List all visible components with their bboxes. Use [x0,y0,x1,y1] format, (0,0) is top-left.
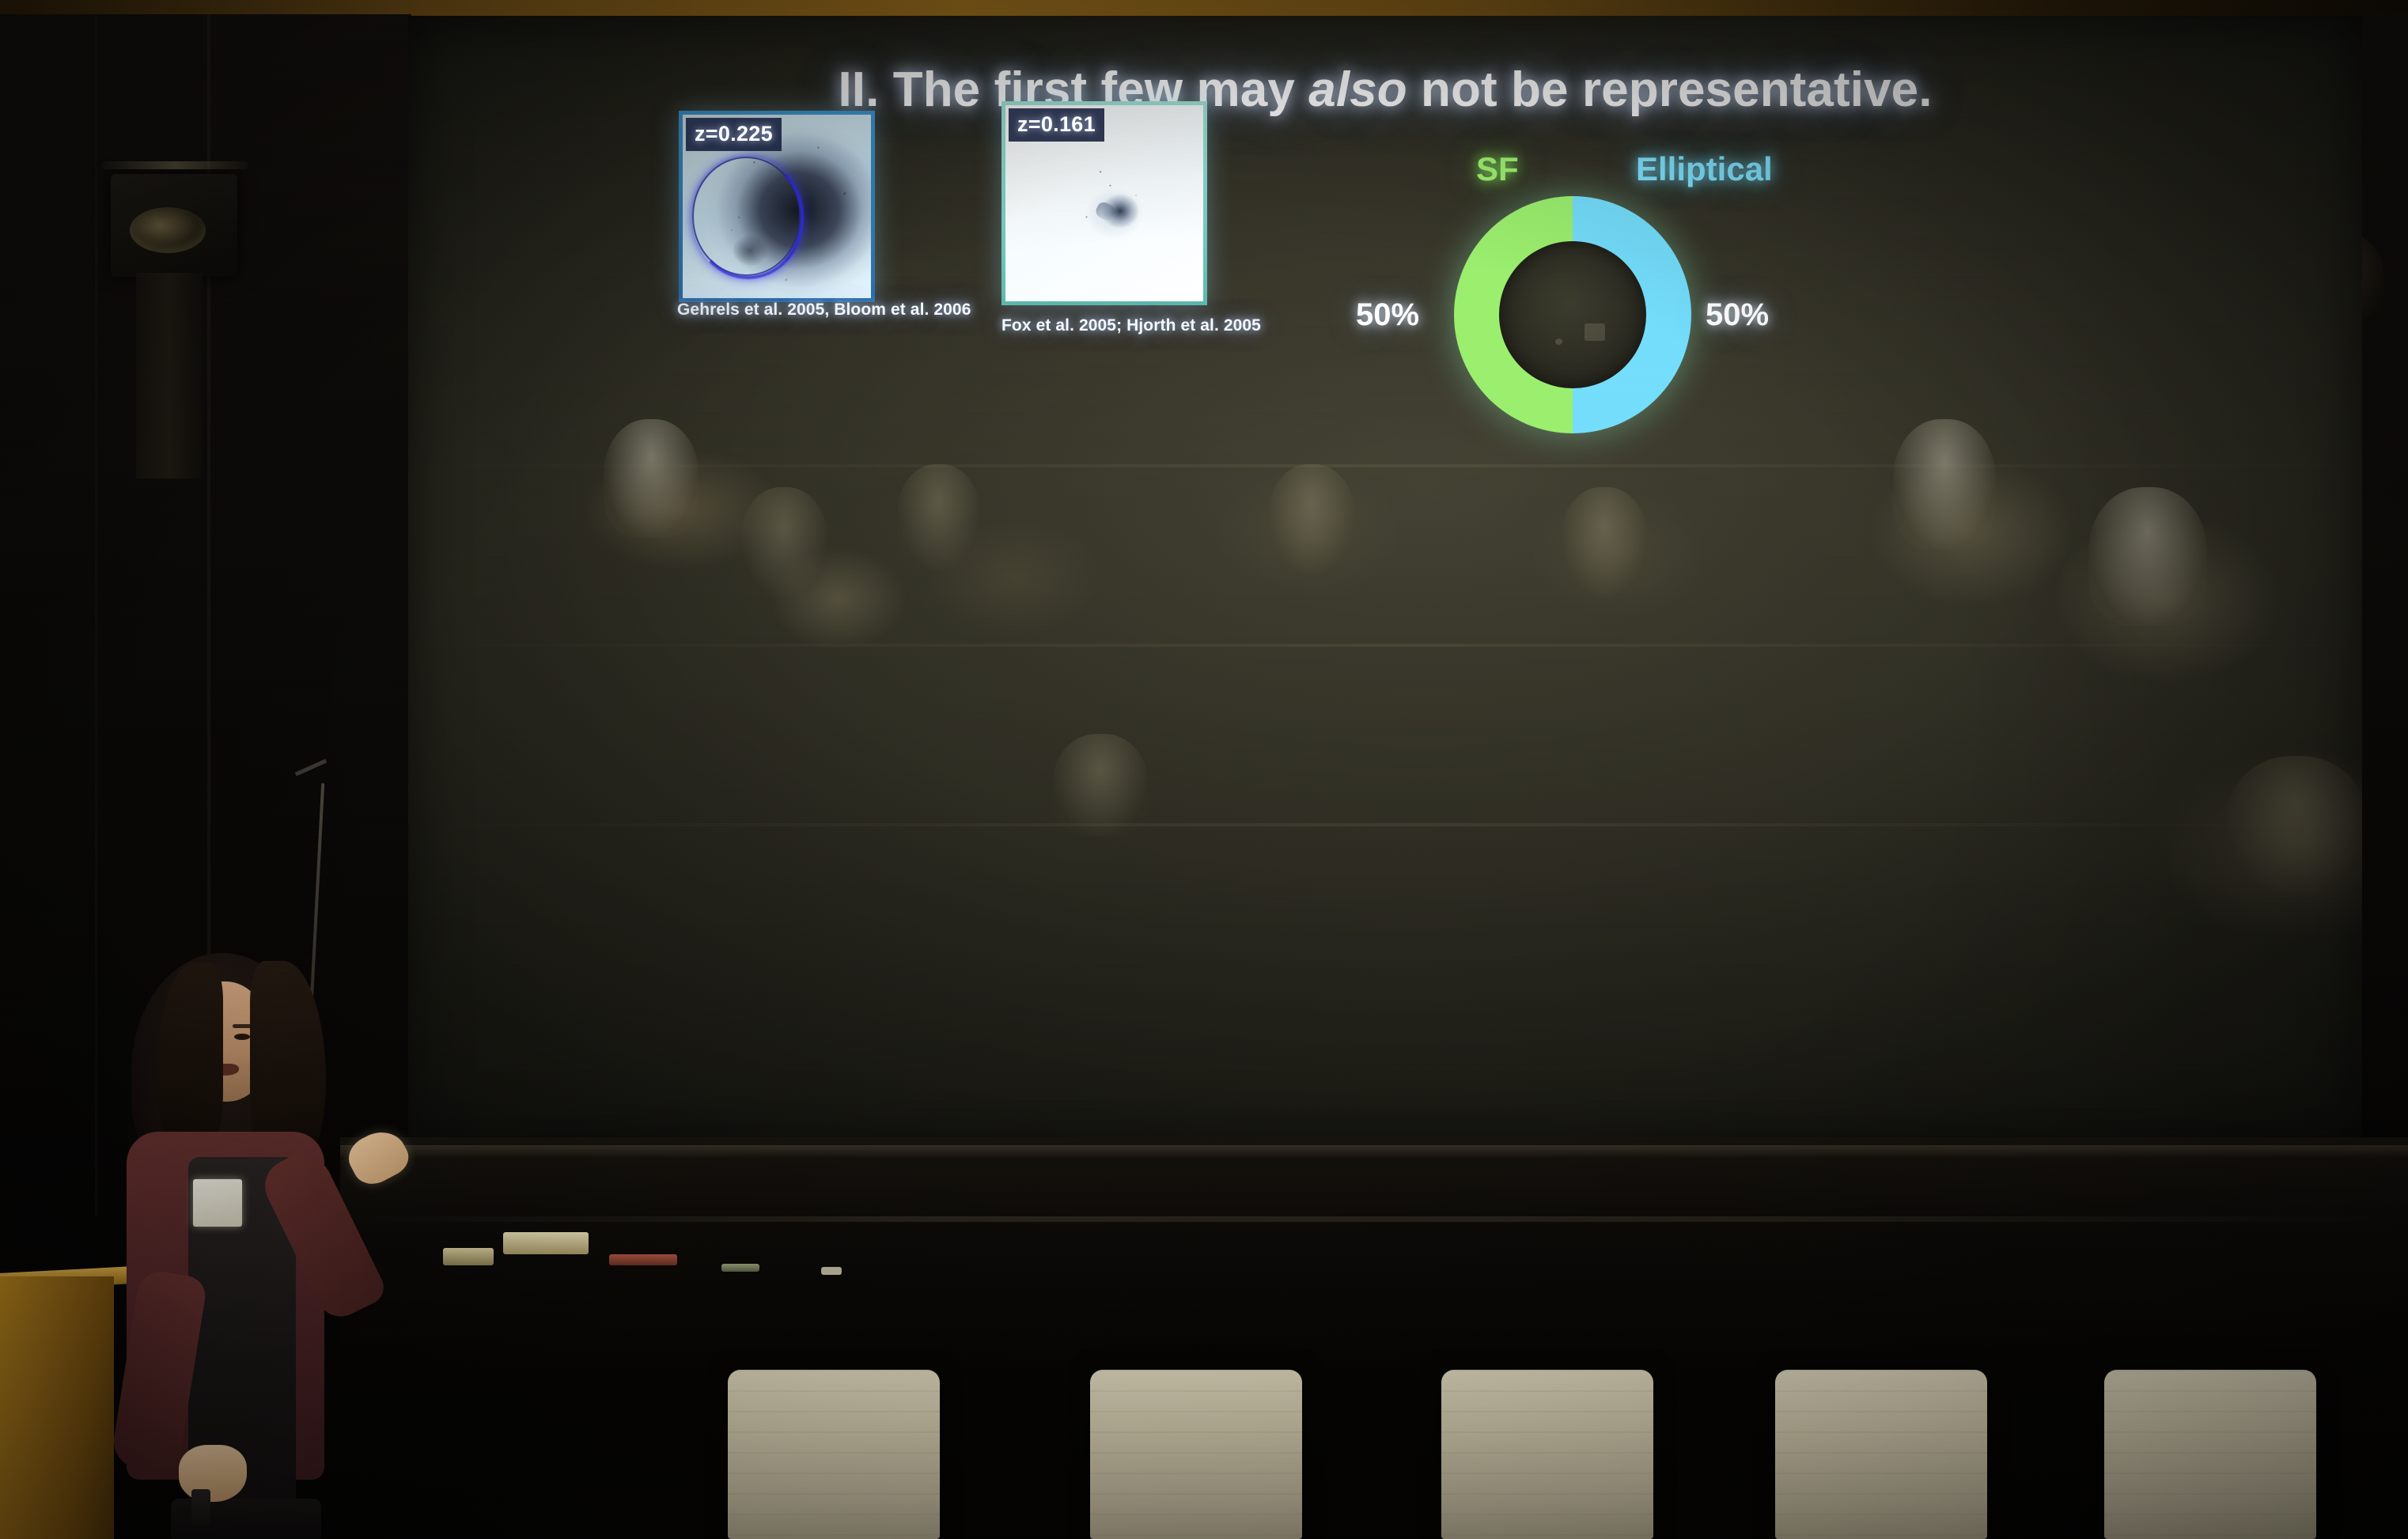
presenter-raised-hand [342,1123,415,1192]
chair [2104,1370,2316,1539]
donut-value-elliptical: 50% [1706,297,1769,333]
right-wall-panel [2361,14,2408,1153]
presenter [95,953,467,1539]
desk-item-marker-red [609,1254,677,1265]
presenter-name-badge [193,1179,242,1227]
chair [1775,1370,1987,1539]
speaker-mount-rail [101,161,248,169]
donut-chart: SF Elliptical 50% 50% [1411,134,1838,467]
donut-center-hole [1499,241,1646,388]
donut-ring [1454,196,1691,433]
galaxy-image-panel-1: z=0.225 [679,111,875,302]
galaxy-caption-2: Fox et al. 2005; Hjorth et al. 2005 [1001,316,1261,335]
donut-hole-artifact-2 [1555,338,1562,345]
blue-arc-highlight [692,157,804,278]
redshift-badge-1: z=0.225 [686,118,782,151]
presentation-clicker [191,1489,210,1526]
speaker-cone [130,207,206,253]
donut-legend-sf: SF [1476,150,1519,188]
projection-screen: II. The first few may also not be repres… [408,16,2362,1137]
slide-title-emphasis: also [1308,62,1407,117]
chair [728,1370,940,1539]
desk-lower-edge [340,1216,2408,1222]
donut-legend-elliptical: Elliptical [1636,150,1773,188]
presenter-hands [179,1445,247,1502]
galaxy-caption-1: Gehrels et al. 2005, Bloom et al. 2006 [677,301,971,320]
lecture-photo: II. The first few may also not be repres… [0,0,2408,1539]
donut-value-sf: 50% [1356,297,1419,333]
desk-item-paper [503,1232,589,1254]
desk-item-marker-green [721,1264,759,1272]
donut-hole-artifact [1585,323,1605,341]
desk-item-small [821,1267,842,1275]
slide-title: II. The first few may also not be repres… [408,62,2362,118]
desk-top-edge [340,1145,2408,1158]
galaxy-image-panel-2: z=0.161 [1001,101,1207,305]
redshift-badge-2: z=0.161 [1009,108,1104,142]
wall-column [136,273,203,478]
chair [1441,1370,1653,1539]
wall-speaker-icon [111,174,237,277]
slide-title-suffix: not be representative. [1407,62,1933,117]
chair [1090,1370,1302,1539]
